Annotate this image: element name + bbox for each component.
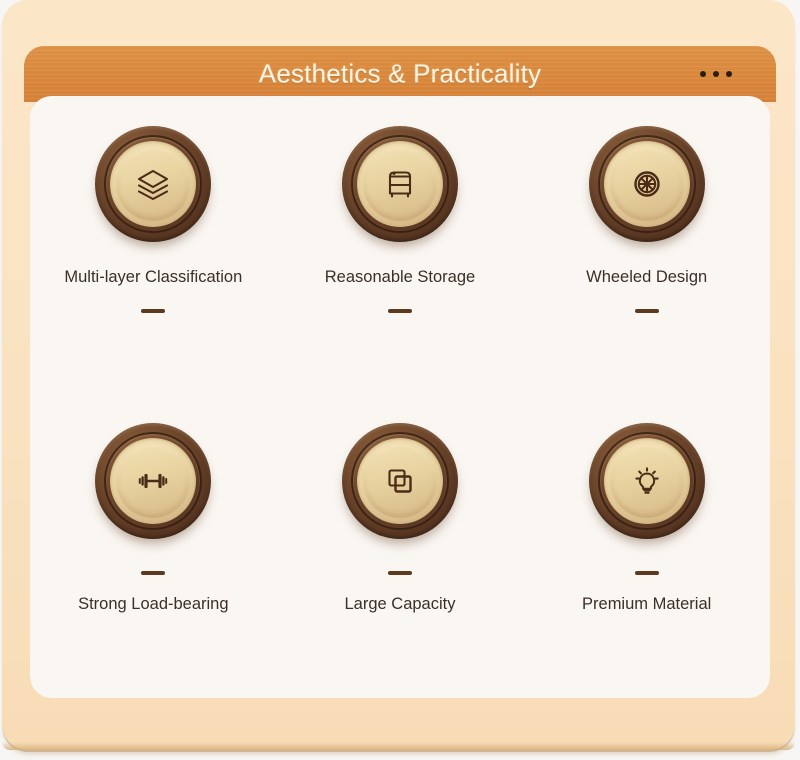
- medallion: [589, 423, 705, 539]
- feature-card: Multi-layer Classification: [30, 96, 770, 698]
- cart-icon: [377, 161, 423, 207]
- feature-item-multi-layer-classification[interactable]: Multi-layer Classification: [30, 96, 277, 397]
- layers-icon: [130, 161, 176, 207]
- feature-item-premium-material[interactable]: Premium Material: [523, 397, 770, 698]
- medallion-face: [116, 444, 190, 518]
- medallion: [589, 126, 705, 242]
- medallion-face: [610, 147, 684, 221]
- menu-dot: [700, 71, 706, 77]
- feature-label: Reasonable Storage: [325, 268, 475, 287]
- feature-label: Wheeled Design: [586, 268, 707, 287]
- medallion: [342, 126, 458, 242]
- feature-divider: [141, 571, 165, 575]
- wheel-icon: [624, 161, 670, 207]
- menu-dot: [726, 71, 732, 77]
- feature-item-reasonable-storage[interactable]: Reasonable Storage: [277, 96, 524, 397]
- medallion: [95, 126, 211, 242]
- card-header: Aesthetics & Practicality: [24, 46, 776, 102]
- feature-label: Strong Load-bearing: [78, 595, 228, 614]
- more-horizontal-icon[interactable]: [700, 71, 732, 77]
- copy-icon: [377, 458, 423, 504]
- medallion-face: [116, 147, 190, 221]
- feature-divider: [141, 309, 165, 313]
- feature-divider: [635, 571, 659, 575]
- feature-item-wheeled-design[interactable]: Wheeled Design: [523, 96, 770, 397]
- feature-grid: Multi-layer Classification: [30, 96, 770, 698]
- page-title: Aesthetics & Practicality: [24, 59, 776, 90]
- medallion-face: [363, 444, 437, 518]
- feature-divider: [388, 309, 412, 313]
- medallion: [95, 423, 211, 539]
- feature-divider: [635, 309, 659, 313]
- medallion-face: [363, 147, 437, 221]
- feature-label: Premium Material: [582, 595, 711, 614]
- feature-item-large-capacity[interactable]: Large Capacity: [277, 397, 524, 698]
- menu-dot: [713, 71, 719, 77]
- feature-label: Large Capacity: [345, 595, 456, 614]
- dumbbell-icon: [130, 458, 176, 504]
- medallion: [342, 423, 458, 539]
- feature-divider: [388, 571, 412, 575]
- feature-label: Multi-layer Classification: [64, 268, 242, 287]
- outer-frame: Aesthetics & Practicality: [2, 0, 795, 750]
- lightbulb-icon: [624, 458, 670, 504]
- medallion-face: [610, 444, 684, 518]
- feature-item-strong-load-bearing[interactable]: Strong Load-bearing: [30, 397, 277, 698]
